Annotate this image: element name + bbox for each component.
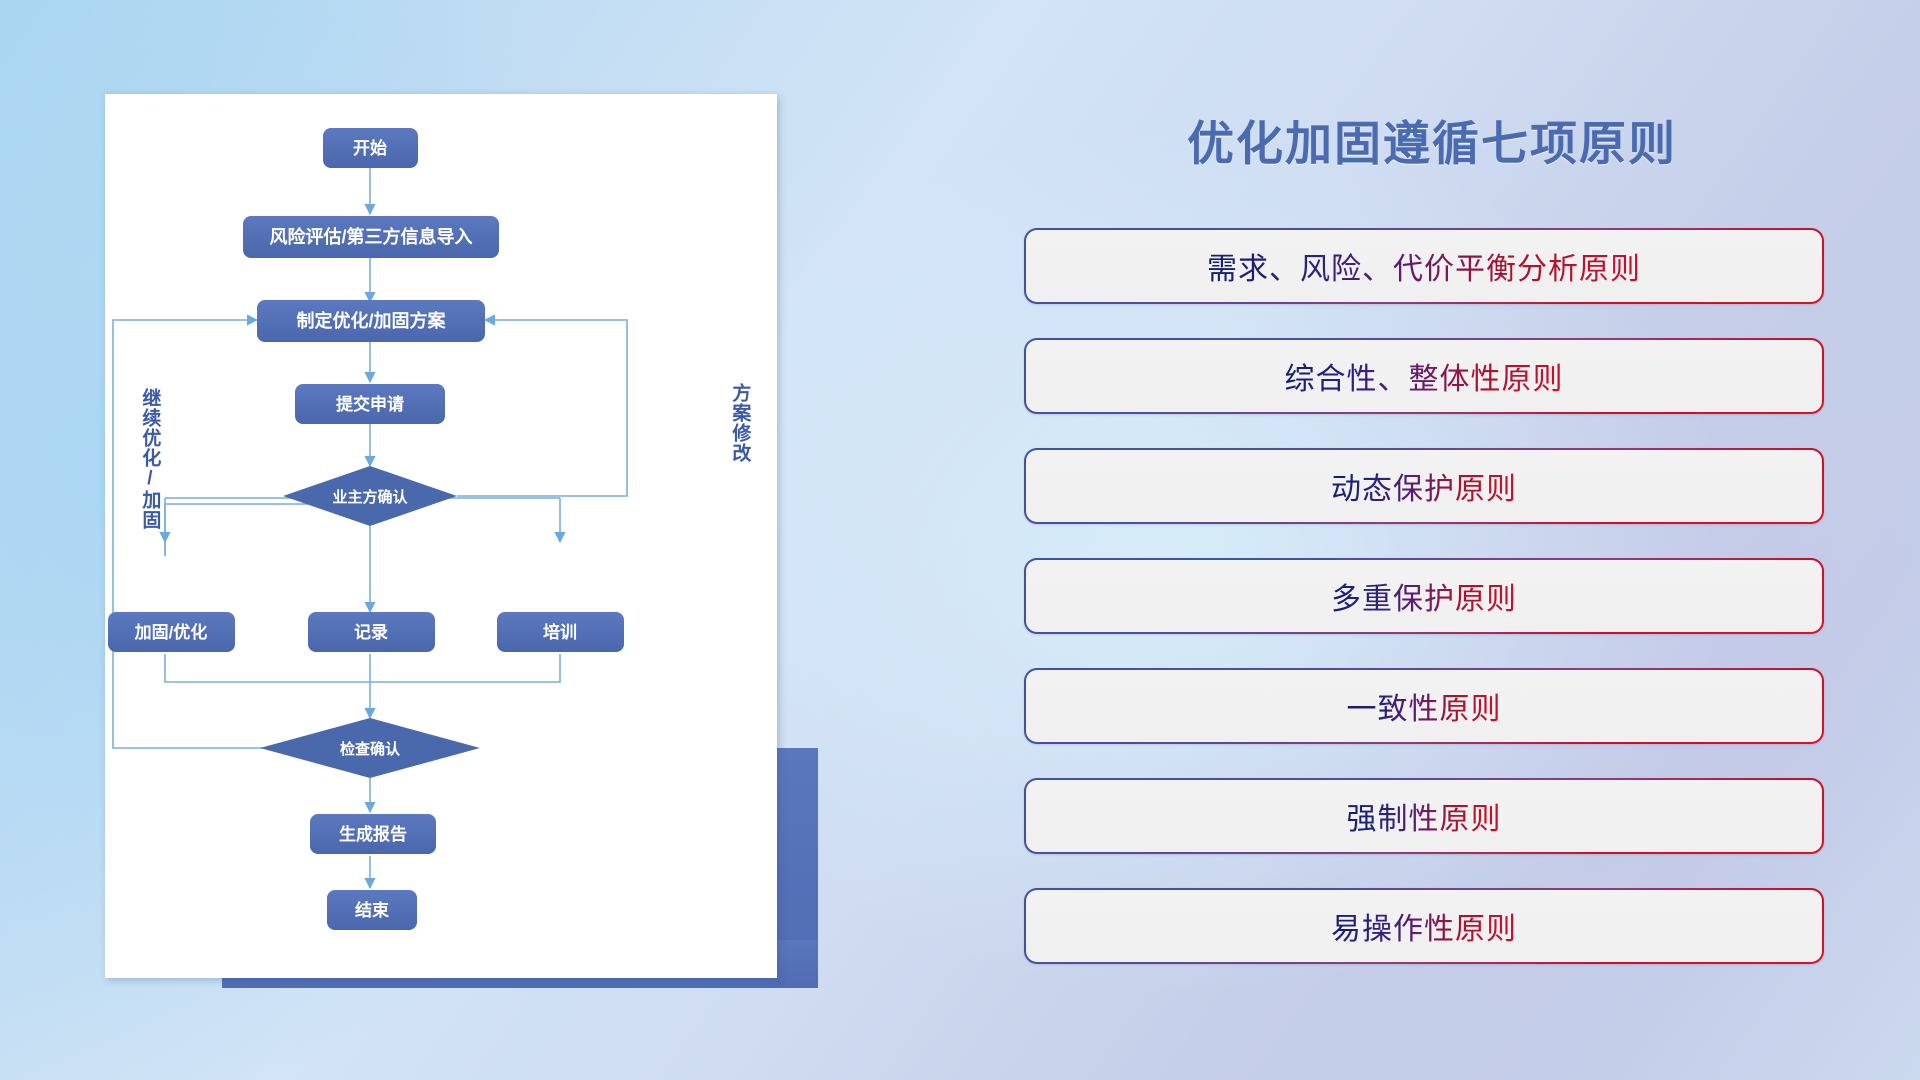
flowchart-canvas: 开始 风险评估/第三方信息导入 制定优化/加固方案 提交申请 业主方确认 加固/… <box>105 94 777 978</box>
principle-card[interactable]: 综合性、整体性原则 <box>1024 338 1824 414</box>
principle-label: 一致性原则 <box>1347 684 1502 728</box>
principle-card[interactable]: 一致性原则 <box>1024 668 1824 744</box>
principle-label: 综合性、整体性原则 <box>1285 354 1564 398</box>
flow-node-submit[interactable]: 提交申请 <box>295 384 445 424</box>
flow-node-label: 培训 <box>543 622 577 642</box>
flow-node-label: 记录 <box>354 623 388 642</box>
flow-node-label: 开始 <box>353 138 387 158</box>
flow-node-check-confirm[interactable]: 检查确认 <box>260 718 480 778</box>
principle-label: 需求、风险、代价平衡分析原则 <box>1207 244 1641 288</box>
flow-node-training[interactable]: 培训 <box>497 612 624 652</box>
principle-card[interactable]: 易操作性原则 <box>1024 888 1824 964</box>
flow-node-label: 结束 <box>355 900 389 920</box>
flow-node-plan[interactable]: 制定优化/加固方案 <box>257 300 485 342</box>
flow-node-owner-confirm[interactable]: 业主方确认 <box>283 466 457 526</box>
principle-label: 强制性原则 <box>1347 794 1502 838</box>
flow-node-label: 加固/优化 <box>134 622 208 642</box>
principle-label: 动态保护原则 <box>1331 464 1517 508</box>
flow-connectors <box>113 168 627 888</box>
principle-label: 易操作性原则 <box>1331 904 1517 948</box>
flow-node-label: 检查确认 <box>340 740 401 758</box>
principle-label: 多重保护原则 <box>1331 574 1517 618</box>
flow-edge-label-continue-optimize: 继续优化/加固 <box>140 388 159 530</box>
flow-edge-label-plan-revision: 方案修改 <box>730 383 749 463</box>
flow-node-label: 制定优化/加固方案 <box>296 310 446 331</box>
principle-card[interactable]: 强制性原则 <box>1024 778 1824 854</box>
flow-node-label: 业主方确认 <box>332 488 408 506</box>
flow-node-label: 提交申请 <box>336 394 404 414</box>
flow-node-label: 风险评估/第三方信息导入 <box>270 226 473 247</box>
flow-node-record[interactable]: 记录 <box>308 612 435 652</box>
principles-list: 需求、风险、代价平衡分析原则 综合性、整体性原则 动态保护原则 多重保护原则 一… <box>1024 228 1824 998</box>
flow-node-label: 生成报告 <box>339 824 407 844</box>
flow-node-end[interactable]: 结束 <box>327 890 417 930</box>
principles-title: 优化加固遵循七项原则 <box>1024 105 1840 174</box>
principle-card[interactable]: 多重保护原则 <box>1024 558 1824 634</box>
flow-node-risk[interactable]: 风险评估/第三方信息导入 <box>243 216 499 258</box>
principle-card[interactable]: 需求、风险、代价平衡分析原则 <box>1024 228 1824 304</box>
principle-card[interactable]: 动态保护原则 <box>1024 448 1824 524</box>
flow-node-report[interactable]: 生成报告 <box>310 814 436 854</box>
flow-node-start[interactable]: 开始 <box>323 128 418 168</box>
flow-node-reinforce[interactable]: 加固/优化 <box>108 612 235 652</box>
